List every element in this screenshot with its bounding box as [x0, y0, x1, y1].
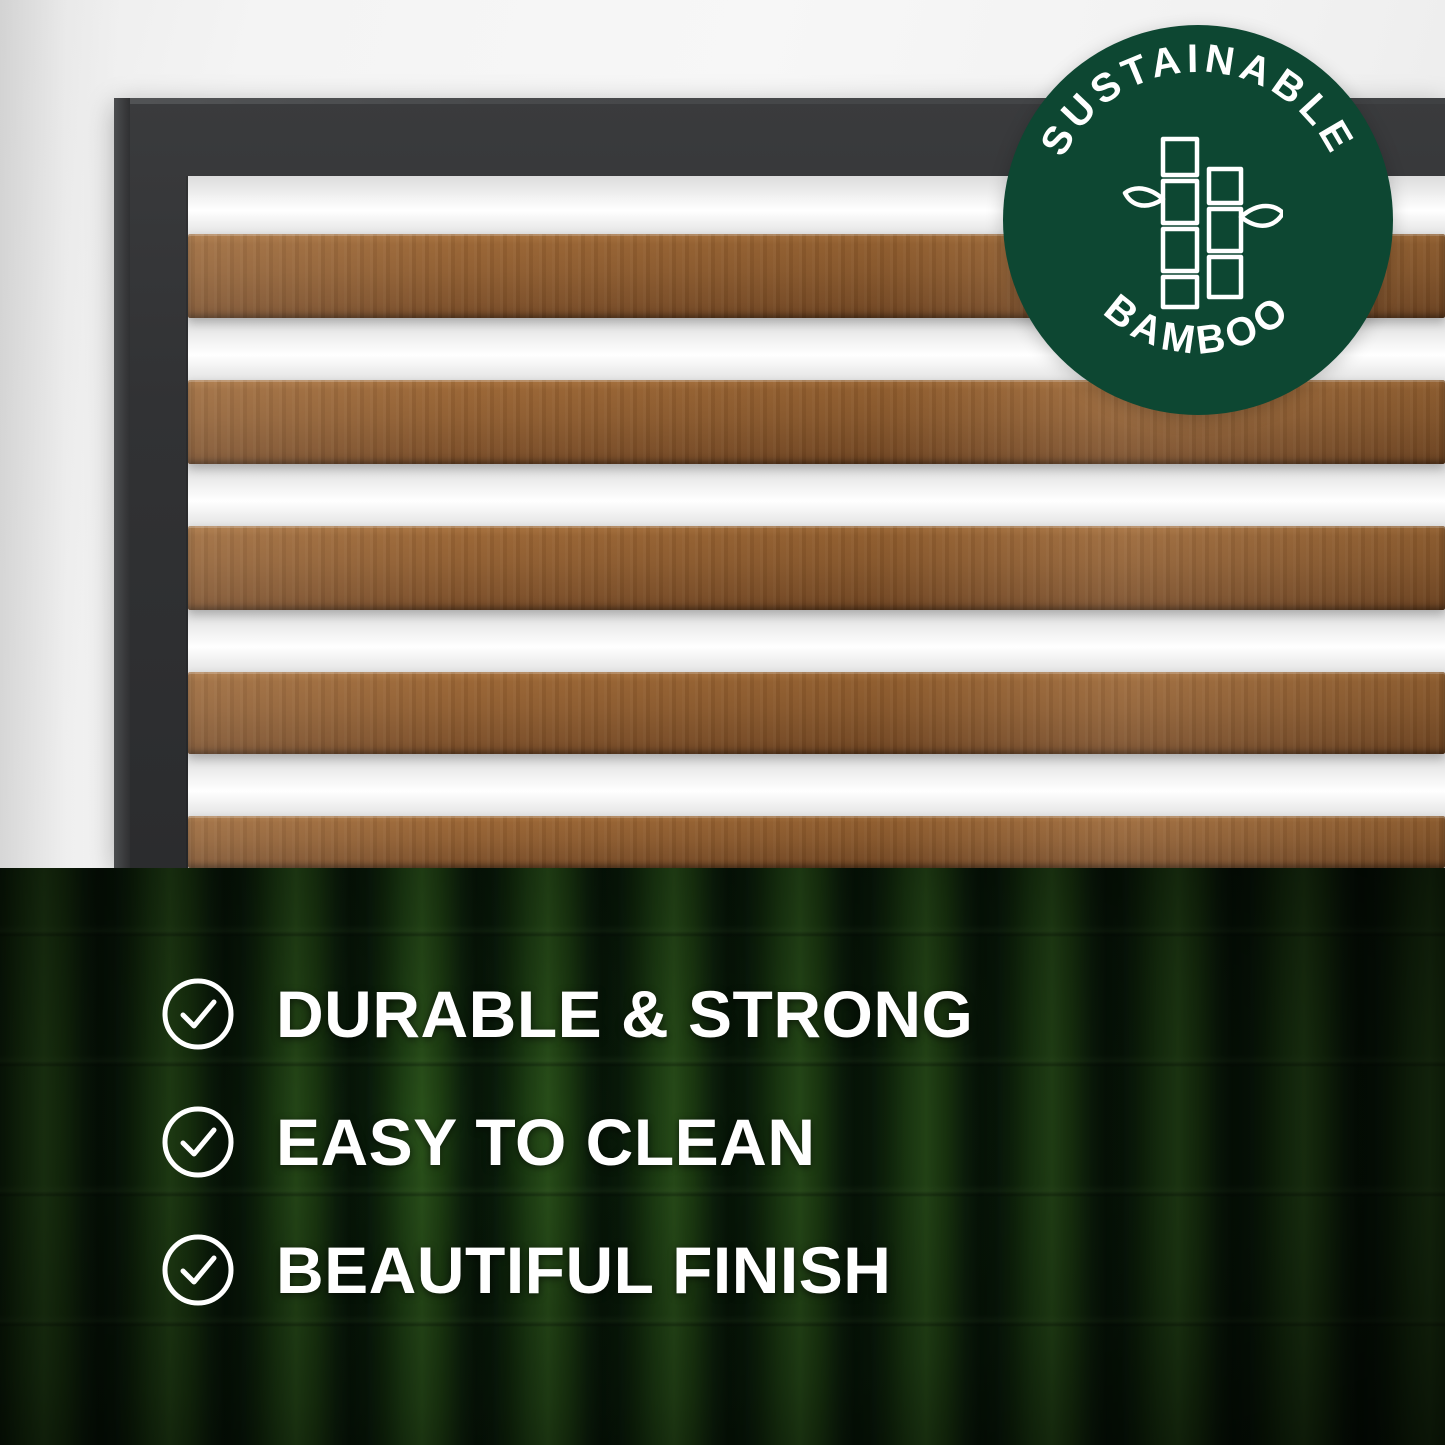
check-circle-icon: [160, 976, 236, 1052]
check-circle-icon: [160, 1232, 236, 1308]
slat-gap: [188, 464, 1445, 526]
list-item: EASY TO CLEAN: [160, 1104, 973, 1180]
list-item: DURABLE & STRONG: [160, 976, 973, 1052]
frame-left-edge: [114, 98, 130, 868]
slat-gap: [188, 610, 1445, 672]
product-infographic: SUSTAINABLE BAMBOO: [0, 0, 1445, 1445]
feature-label: EASY TO CLEAN: [276, 1109, 816, 1175]
features-panel: DURABLE & STRONG EASY TO CLEAN: [0, 868, 1445, 1445]
check-circle-icon: [160, 1104, 236, 1180]
bamboo-slat: [188, 672, 1445, 754]
feature-label: BEAUTIFUL FINISH: [276, 1237, 891, 1303]
bamboo-slat: [188, 526, 1445, 610]
sustainable-bamboo-badge: SUSTAINABLE BAMBOO: [1003, 25, 1393, 415]
bamboo-slat: [188, 816, 1445, 868]
list-item: BEAUTIFUL FINISH: [160, 1232, 973, 1308]
feature-list: DURABLE & STRONG EASY TO CLEAN: [160, 976, 973, 1308]
wall-shadow: [0, 0, 120, 868]
bamboo-stalks-icon: [1113, 125, 1283, 315]
slat-gap: [188, 754, 1445, 816]
feature-label: DURABLE & STRONG: [276, 981, 973, 1047]
product-photo-top: SUSTAINABLE BAMBOO: [0, 0, 1445, 868]
